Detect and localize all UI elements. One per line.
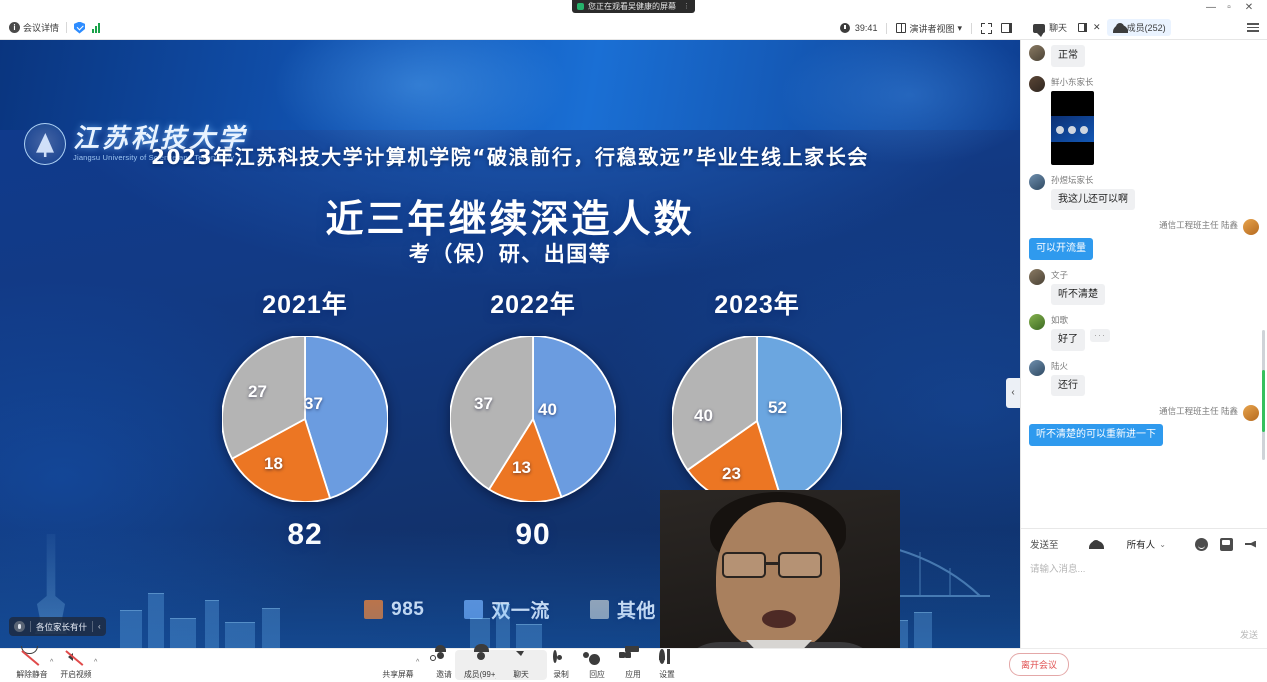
participants-icon	[1112, 23, 1123, 33]
reactions-icon	[589, 652, 606, 667]
pie-chart-graphic: 401337	[450, 336, 616, 502]
divider	[971, 23, 972, 34]
divider	[886, 23, 887, 34]
chat-message-incoming: 正常	[1029, 45, 1259, 67]
chat-message-text[interactable]: 好了	[1051, 329, 1085, 351]
collapse-panel-arrow[interactable]: ‹	[1006, 378, 1020, 408]
meeting-timer-value: 39:41	[855, 23, 878, 33]
chat-message-outgoing: 通信工程班主任 陆鑫 可以开流量	[1029, 219, 1259, 260]
presenter-video-tile[interactable]	[660, 490, 900, 648]
presenter-mouth	[762, 610, 796, 628]
chat-sender-name: 鲜小东家长	[1051, 76, 1094, 88]
chat-sender-name: 如歌	[1051, 314, 1110, 326]
chat-message-text[interactable]: 正常	[1051, 45, 1085, 67]
fullscreen-icon[interactable]	[981, 23, 992, 34]
toolbar-share-screen-button[interactable]: 共享屏幕^	[372, 652, 424, 680]
view-mode-label: 演讲者视图	[909, 22, 954, 35]
record-icon	[553, 652, 570, 667]
send-to-value[interactable]: 所有人	[1127, 537, 1156, 551]
pie-slice-value: 37	[474, 394, 493, 414]
toolbar-item-label: 回应	[589, 669, 605, 680]
chat-message-image: 鲜小东家长	[1029, 76, 1259, 165]
chat-sender-name: 通信工程班主任 陆鑫	[1159, 219, 1238, 231]
microphone-muted-icon	[24, 652, 41, 667]
chat-sender-name: 陆火	[1051, 360, 1085, 372]
avatar[interactable]	[1029, 76, 1045, 92]
chat-message-list[interactable]: 正常 鲜小东家长 孙煜坛家长 我这儿还可以啊通信工程班主任 陆鑫 可以开流量 文…	[1021, 40, 1267, 528]
toolbar-item-label: 录制	[553, 669, 569, 680]
pie-chart-year-label: 2023年	[642, 285, 872, 321]
chat-message-text[interactable]: 可以开流量	[1029, 238, 1093, 260]
meeting-toolbar: 离开会议 解除静音^ 开启视频^ 共享屏幕^ 邀请 成员(99+) 聊天 录制 …	[0, 648, 1267, 682]
view-layout-icon	[896, 23, 906, 33]
tab-participants-label: 成员(252)	[1127, 21, 1166, 34]
chart-subtitle: 考（保）研、出国等	[0, 238, 1020, 268]
camera-off-icon	[68, 652, 85, 667]
pie-slice-value: 52	[768, 398, 787, 418]
chevron-down-icon[interactable]: ⌄	[1159, 540, 1166, 549]
avatar[interactable]	[1029, 174, 1045, 190]
window-minimize-button[interactable]: —	[1204, 2, 1218, 14]
toolbar-item-label: 邀请	[436, 669, 452, 680]
window-maximize-button[interactable]: ▫	[1222, 2, 1236, 14]
avatar[interactable]	[1029, 360, 1045, 376]
toolbar-item-label: 聊天	[513, 669, 529, 680]
chat-composer: 发送至 所有人 ⌄ 请输入消息... 发送	[1021, 528, 1267, 648]
send-to-label: 发送至	[1030, 537, 1059, 551]
tab-chat[interactable]: 聊天	[1028, 19, 1072, 36]
pie-chart-year-label: 2021年	[190, 285, 420, 321]
chat-message-incoming: 文子 听不清楚	[1029, 269, 1259, 306]
chat-bubble-icon	[1033, 24, 1045, 33]
hamburger-menu-icon[interactable]	[1247, 23, 1259, 32]
avatar[interactable]	[1029, 314, 1045, 330]
presenter-glasses-right	[778, 552, 822, 578]
presenter-collar	[746, 640, 812, 648]
slide-banner-title: 2023年江苏科技大学计算机学院“破浪前行，行稳致远”毕业生线上家长会	[0, 141, 1020, 170]
avatar[interactable]	[1243, 219, 1259, 235]
chat-message-text[interactable]: 听不清楚的可以重新进一下	[1029, 424, 1163, 446]
chat-sender-name: 文子	[1051, 269, 1105, 281]
chat-sender-name: 孙煜坛家长	[1051, 174, 1135, 186]
send-button[interactable]: 发送	[1240, 628, 1258, 641]
screen-share-banner-text: 您正在观看吴健康的屏幕	[588, 0, 676, 13]
popout-icon[interactable]	[1078, 23, 1087, 32]
chat-sender-name: 通信工程班主任 陆鑫	[1159, 405, 1238, 417]
chat-message-text[interactable]: 还行	[1051, 375, 1085, 397]
chat-panel: 正常 鲜小东家长 孙煜坛家长 我这儿还可以啊通信工程班主任 陆鑫 可以开流量 文…	[1020, 40, 1267, 648]
toolbar-item-label: 解除静音	[16, 669, 47, 680]
chat-more-options-icon[interactable]: ···	[1090, 329, 1110, 342]
chat-image-thumbnail[interactable]	[1051, 91, 1094, 165]
chat-message-text[interactable]: 听不清楚	[1051, 284, 1105, 306]
presenter-glasses-left	[722, 552, 766, 578]
shared-screen-stage[interactable]: 江苏科技大学 Jiangsu University of Science and…	[0, 40, 1020, 648]
chat-message-incoming: 孙煜坛家长 我这儿还可以啊	[1029, 174, 1259, 211]
participants-icon	[473, 652, 490, 667]
toolbar-item-label: 共享屏幕	[382, 669, 413, 680]
meeting-timer: 39:41	[840, 23, 878, 33]
file-attach-icon[interactable]	[1220, 538, 1233, 551]
screen-share-indicator-icon	[577, 3, 584, 10]
chat-message-text[interactable]: 我这儿还可以啊	[1051, 189, 1135, 211]
pie-slice-value: 18	[264, 454, 283, 474]
toolbar-item-label: 应用	[625, 669, 641, 680]
pie-slice-value: 23	[722, 464, 741, 484]
chevron-left-icon[interactable]: ‹	[98, 622, 101, 631]
share-screen-icon	[390, 652, 407, 667]
microphone-icon	[14, 621, 25, 632]
video-header-controls: 39:41 演讲者视图 ▾	[0, 16, 1020, 40]
screen-share-banner[interactable]: 您正在观看吴健康的屏幕 ⋮	[572, 0, 695, 13]
tab-chat-label: 聊天	[1049, 21, 1067, 34]
chevron-down-icon: ▾	[957, 23, 962, 34]
announcement-icon[interactable]	[1245, 538, 1258, 551]
settings-gear-icon	[659, 652, 676, 667]
pie-chart-graphic: 522340	[672, 336, 842, 506]
emoji-icon[interactable]	[1195, 538, 1208, 551]
chat-message-incoming: 陆火 还行	[1029, 360, 1259, 397]
pie-slice-value: 37	[304, 394, 323, 414]
chart-title: 近三年继续深造人数	[0, 188, 1020, 243]
pie-chart-0: 2021年37182782	[190, 285, 420, 552]
pie-slice-value: 40	[694, 406, 713, 426]
screen-share-menu-icon[interactable]: ⋮	[683, 0, 690, 13]
pie-chart-year-label: 2022年	[418, 285, 648, 321]
presentation-slide: 江苏科技大学 Jiangsu University of Science and…	[0, 40, 1020, 648]
chat-icon	[513, 652, 530, 667]
panel-close-icon[interactable]: ✕	[1093, 22, 1101, 33]
leave-meeting-button[interactable]: 离开会议	[1009, 653, 1069, 676]
slide-header-band	[0, 40, 1020, 130]
recipient-icon	[1088, 540, 1098, 549]
chevron-up-icon[interactable]: ^	[94, 659, 97, 666]
divider	[30, 621, 31, 632]
avatar[interactable]	[1243, 405, 1259, 421]
window-close-button[interactable]: ✕	[1242, 2, 1256, 14]
chat-message-incoming: 如歌 好了···	[1029, 314, 1259, 351]
view-mode-selector[interactable]: 演讲者视图 ▾	[896, 22, 962, 35]
toolbar-settings-gear-button[interactable]: 设置	[641, 652, 693, 680]
toolbar-item-label: 设置	[659, 669, 675, 680]
chat-message-outgoing: 通信工程班主任 陆鑫 听不清楚的可以重新进一下	[1029, 405, 1259, 446]
toolbar-camera-off-button[interactable]: 开启视频^	[50, 652, 102, 680]
invite-icon	[436, 652, 453, 667]
pie-slice-value: 40	[538, 400, 557, 420]
apps-icon	[625, 652, 642, 667]
toolbar-item-label: 开启视频	[60, 669, 91, 680]
pie-chart-graphic: 371827	[222, 336, 388, 502]
minimize-view-icon[interactable]	[1001, 23, 1012, 33]
chat-input[interactable]: 请输入消息...	[1030, 561, 1258, 575]
pie-slice-value: 13	[512, 458, 531, 478]
divider	[92, 621, 93, 632]
participant-name-label: 各位家长有什	[36, 621, 87, 633]
side-panel-header: 聊天 ✕ 成员(252)	[1020, 16, 1267, 40]
avatar[interactable]	[1029, 45, 1045, 61]
pie-chart-1: 2022年40133790	[418, 285, 648, 552]
clock-icon	[840, 23, 850, 33]
presenter-glasses-bridge	[766, 562, 780, 565]
chat-scroll-thumb[interactable]	[1262, 370, 1265, 432]
toolbar-item-label: 成员(99+)	[464, 669, 498, 680]
avatar[interactable]	[1029, 269, 1045, 285]
tab-participants[interactable]: 成员(252)	[1107, 19, 1171, 36]
pie-slice-value: 27	[248, 382, 267, 402]
participant-name-pill[interactable]: 各位家长有什 ‹	[9, 617, 106, 636]
